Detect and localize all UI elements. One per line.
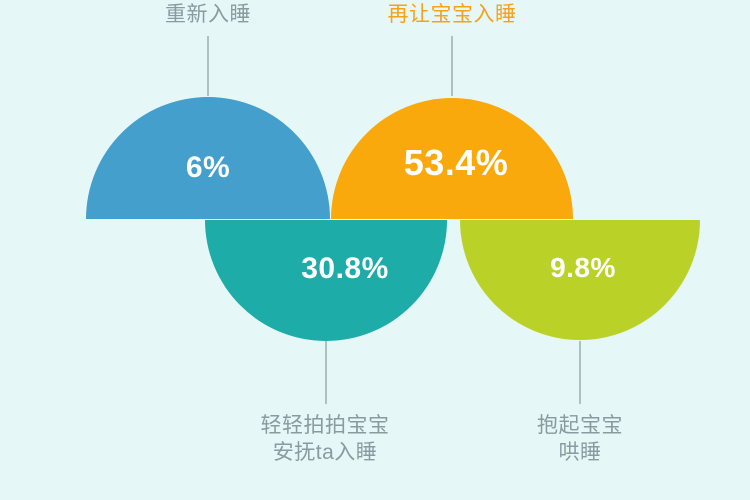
segment-value-teal: 30.8% [270, 252, 420, 286]
segment-caption-orange: 再让宝宝入睡 [352, 2, 552, 29]
segment-caption-teal: 轻轻拍拍宝宝 安抚ta入睡 [225, 413, 425, 467]
segment-caption-green: 抱起宝宝 哄睡 [480, 413, 680, 467]
segment-caption-blue: 重新入睡 [108, 2, 308, 29]
segment-value-blue: 6% [148, 151, 268, 185]
infographic-canvas: 重新入睡 再让宝宝入睡 轻轻拍拍宝宝 安抚ta入睡 抱起宝宝 哄睡 6% 53.… [0, 0, 750, 500]
segment-value-orange: 53.4% [381, 142, 531, 184]
segment-value-green: 9.8% [518, 252, 648, 284]
